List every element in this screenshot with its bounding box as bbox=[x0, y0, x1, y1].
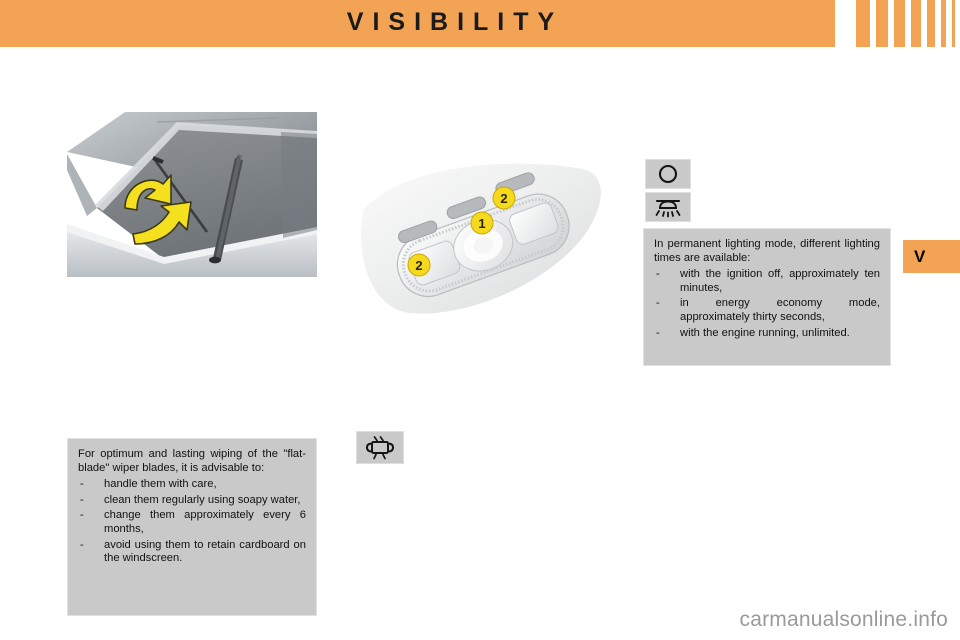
list-item: - with the engine running, unlimited. bbox=[654, 327, 880, 341]
permanent-lighting-icon-button[interactable] bbox=[645, 192, 691, 222]
wiper-info-lead: For optimum and lasting wiping of the "f… bbox=[78, 448, 306, 475]
bullet-dash: - bbox=[80, 539, 84, 553]
list-item: - avoid using them to retain cardboard o… bbox=[78, 539, 306, 566]
list-item-text: handle them with care, bbox=[104, 478, 217, 490]
svg-text:2: 2 bbox=[500, 191, 507, 206]
svg-text:1: 1 bbox=[478, 216, 485, 231]
lamp-rays-icon bbox=[652, 195, 684, 219]
list-item-text: change them approximately every 6 months… bbox=[104, 509, 306, 535]
chapter-tab-label: V bbox=[914, 247, 925, 267]
page-header: VISIBILITY bbox=[0, 0, 960, 47]
doors-open-icon-button[interactable] bbox=[356, 431, 404, 464]
list-item-text: avoid using them to retain cardboard on … bbox=[104, 539, 306, 565]
header-stripe-group bbox=[835, 0, 960, 47]
list-item: - with the ignition off, approximately t… bbox=[654, 268, 880, 295]
header-stripe bbox=[876, 0, 888, 47]
header-stripe bbox=[894, 0, 905, 47]
list-item: - handle them with care, bbox=[78, 478, 306, 492]
header-stripe bbox=[952, 0, 955, 47]
page-title: VISIBILITY bbox=[0, 8, 910, 37]
light-off-icon-button[interactable] bbox=[645, 159, 691, 189]
interior-lamp-photo: 2 1 2 bbox=[356, 157, 606, 322]
bullet-dash: - bbox=[656, 268, 660, 282]
bullet-dash: - bbox=[80, 494, 84, 508]
windscreen-wiper-photo bbox=[67, 112, 317, 277]
site-watermark: carmanualsonline.info bbox=[0, 608, 948, 632]
bullet-dash: - bbox=[656, 327, 660, 341]
callout-1-center: 1 bbox=[471, 212, 493, 234]
permanent-lighting-info-box: In permanent lighting mode, different li… bbox=[643, 228, 891, 366]
callout-2-right: 2 bbox=[493, 187, 515, 209]
chapter-tab-v[interactable]: V bbox=[903, 240, 960, 273]
svg-text:2: 2 bbox=[415, 258, 422, 273]
header-stripe bbox=[941, 0, 946, 47]
bullet-dash: - bbox=[80, 478, 84, 492]
header-stripe bbox=[927, 0, 935, 47]
list-item-text: with the ignition off, approximately ten… bbox=[680, 268, 880, 294]
list-item: - change them approximately every 6 mont… bbox=[78, 509, 306, 536]
bullet-dash: - bbox=[80, 509, 84, 523]
circle-off-icon bbox=[655, 163, 681, 185]
lighting-info-lead: In permanent lighting mode, different li… bbox=[654, 238, 880, 265]
list-item-text: with the engine running, unlimited. bbox=[680, 327, 850, 339]
header-stripe bbox=[856, 0, 870, 47]
list-item-text: in energy economy mode, approximately th… bbox=[680, 297, 880, 323]
wiper-care-info-box: For optimum and lasting wiping of the "f… bbox=[67, 438, 317, 616]
lighting-info-list: - with the ignition off, approximately t… bbox=[654, 268, 880, 340]
windscreen-wiper-illustration bbox=[67, 112, 317, 277]
car-doors-open-icon bbox=[363, 436, 397, 460]
callout-2-left: 2 bbox=[408, 254, 430, 276]
list-item-text: clean them regularly using soapy water, bbox=[104, 494, 301, 506]
interior-lamp-illustration: 2 1 2 bbox=[356, 157, 606, 322]
wiper-info-list: - handle them with care, - clean them re… bbox=[78, 478, 306, 566]
bullet-dash: - bbox=[656, 297, 660, 311]
list-item: - in energy economy mode, approximately … bbox=[654, 297, 880, 324]
list-item: - clean them regularly using soapy water… bbox=[78, 494, 306, 508]
header-stripe bbox=[911, 0, 921, 47]
